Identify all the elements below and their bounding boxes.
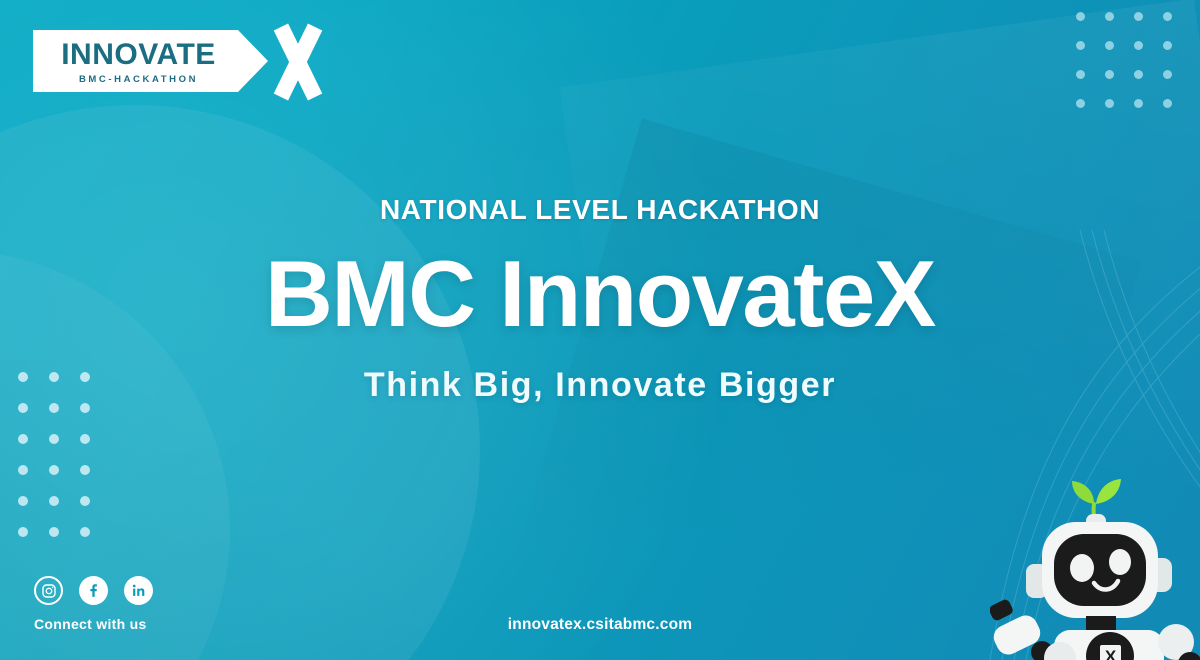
facebook-glyph xyxy=(85,582,102,599)
brand-logo[interactable]: INNOVATE BMC-HACKATHON xyxy=(33,30,360,92)
logo-subtitle: BMC-HACKATHON xyxy=(79,75,198,85)
logo-x-icon xyxy=(264,30,360,92)
robot-mascot: X xyxy=(990,452,1200,660)
event-kicker: NATIONAL LEVEL HACKATHON xyxy=(0,196,1200,224)
facebook-icon[interactable] xyxy=(79,576,108,605)
instagram-glyph xyxy=(41,583,57,599)
event-tagline: Think Big, Innovate Bigger xyxy=(0,368,1200,402)
linkedin-glyph xyxy=(130,582,147,599)
linkedin-icon[interactable] xyxy=(124,576,153,605)
social-icon-row xyxy=(34,576,153,605)
instagram-icon[interactable] xyxy=(34,576,63,605)
page-title: BMC InnovateX xyxy=(0,246,1200,342)
hero-copy: NATIONAL LEVEL HACKATHON BMC InnovateX T… xyxy=(0,196,1200,402)
logo-plate: INNOVATE BMC-HACKATHON xyxy=(33,30,238,92)
dot-grid-top-right xyxy=(1076,12,1172,108)
hackathon-poster: INNOVATE BMC-HACKATHON NATIONAL LEVEL HA… xyxy=(0,0,1200,660)
logo-wordmark: INNOVATE xyxy=(61,40,216,70)
chest-badge-letter: X xyxy=(1105,647,1117,660)
